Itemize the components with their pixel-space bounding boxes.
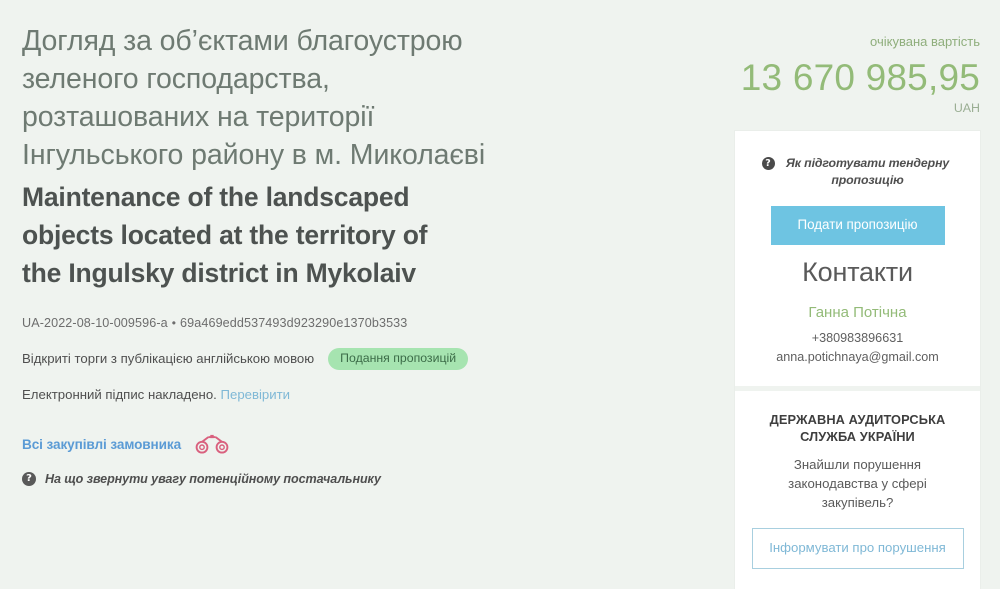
- question-icon: ?: [762, 157, 775, 170]
- prepare-proposal-row[interactable]: ? Як підготувати тендерну пропозицію: [751, 149, 964, 189]
- prepare-proposal-link[interactable]: Як підготувати тендерну пропозицію: [782, 155, 954, 189]
- audit-question-text: Знайшли порушення законодавства у сфері …: [751, 455, 964, 512]
- signature-label: Електронний підпис накладено.: [22, 387, 217, 402]
- procedure-row: Відкриті торги з публікацією англійською…: [22, 348, 622, 370]
- tender-id: UA-2022-08-10-009596-a: [22, 316, 168, 330]
- audit-service-name: ДЕРЖАВНА АУДИТОРСЬКА СЛУЖБА УКРАЇНИ: [751, 411, 964, 445]
- tender-meta: UA-2022-08-10-009596-a•69a469edd537493d9…: [22, 314, 622, 486]
- tender-main-info: Догляд за об’єктами благоустрою зеленого…: [22, 22, 622, 486]
- contact-phone: +380983896631: [751, 330, 964, 347]
- tender-identifiers: UA-2022-08-10-009596-a•69a469edd537493d9…: [22, 314, 622, 332]
- status-badge: Подання пропозицій: [328, 348, 468, 370]
- card-section-audit: ДЕРЖАВНА АУДИТОРСЬКА СЛУЖБА УКРАЇНИ Знай…: [735, 391, 980, 589]
- verify-signature-link[interactable]: Перевірити: [221, 387, 291, 402]
- supplier-hint-link[interactable]: На що звернути увагу потенційному постач…: [45, 472, 381, 486]
- report-violation-button[interactable]: Інформувати про порушення: [752, 528, 964, 569]
- id-separator: •: [168, 316, 180, 330]
- binoculars-icon[interactable]: [195, 434, 229, 454]
- page-title-ukrainian: Догляд за об’єктами благоустрою зеленого…: [22, 22, 622, 174]
- tender-hash: 69a469edd537493d923290e1370b3533: [180, 316, 407, 330]
- all-customer-tenders-link[interactable]: Всі закупівлі замовника: [22, 437, 181, 452]
- customer-row: Всі закупівлі замовника: [22, 434, 622, 454]
- expected-value-amount: 13 670 985,95: [718, 56, 980, 100]
- contact-person-name: Ганна Потічна: [751, 303, 964, 323]
- procedure-type-label: Відкриті торги з публікацією англійською…: [22, 350, 314, 368]
- contact-email: anna.potichnaya@gmail.com: [751, 349, 964, 366]
- sidebar-card: ? Як підготувати тендерну пропозицію Под…: [735, 131, 980, 589]
- contacts-heading: Контакти: [751, 255, 964, 289]
- question-icon: ?: [22, 472, 36, 486]
- expected-value-currency: UAH: [718, 101, 980, 115]
- supplier-hint-row[interactable]: ? На що звернути увагу потенційному пост…: [22, 472, 622, 486]
- expected-value-label: очікувана вартість: [718, 34, 980, 50]
- signature-row: Електронний підпис накладено. Перевірити: [22, 386, 622, 404]
- page-title-english: Maintenance of the landscaped objects lo…: [22, 178, 622, 292]
- tender-sidebar: очікувана вартість 13 670 985,95 UAH ? Я…: [718, 0, 980, 589]
- submit-proposal-button[interactable]: Подати пропозицію: [771, 206, 945, 245]
- tender-page: Догляд за об’єктами благоустрою зеленого…: [0, 0, 1000, 525]
- card-section-proposal: ? Як підготувати тендерну пропозицію Под…: [735, 131, 980, 386]
